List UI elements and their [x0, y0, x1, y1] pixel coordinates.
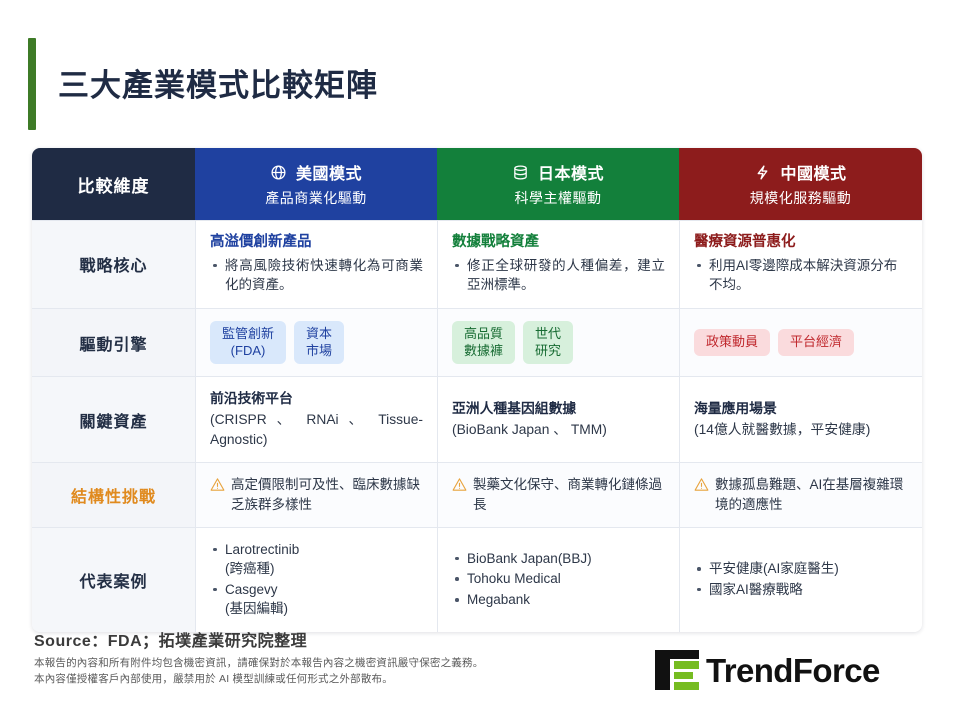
cell-cases-us: Larotrectinib(跨癌種) Casgevy(基因編輯)	[195, 528, 437, 632]
challenge-text: 製藥文化保守、商業轉化鏈條過長	[473, 475, 665, 514]
cell-driving-engine-jp: 高品質數據褲 世代研究	[437, 309, 679, 377]
header-col-jp-subtitle: 科學主權驅動	[515, 188, 602, 208]
row-label-representative-cases: 代表案例	[32, 528, 195, 632]
cell-lead: 數據戰略資產	[452, 233, 665, 253]
source-note: Source：FDA；拓墣產業研究院整理	[34, 627, 307, 651]
slide-root: 三大產業模式比較矩陣 TrendForce 比較維度 美國模式 產品商業化驅動	[0, 0, 960, 720]
cell-lead: 高溢價創新產品	[210, 233, 423, 253]
trendforce-logo-text: TrendForce	[706, 654, 880, 687]
row-label-driving-engine: 驅動引擎	[32, 309, 195, 377]
cell-challenge-jp: 製藥文化保守、商業轉化鏈條過長	[437, 463, 679, 526]
row-label-strategy-core: 戰略核心	[32, 221, 195, 308]
disclaimer-line-1: 本報告的內容和所有附件均包含機密資訊，請確保對於本報告內容之機密資訊嚴守保密之義…	[34, 655, 483, 671]
badge[interactable]: 平台經濟	[778, 329, 854, 356]
cell-challenge-cn: 數據孤島難題、AI在基層複雜環境的適應性	[679, 463, 922, 526]
list-item: Tohoku Medical	[452, 569, 665, 589]
cell-key-assets-cn: 海量應用場景 (14億人就醫數據，平安健康)	[679, 377, 922, 462]
header-col-us: 美國模式 產品商業化驅動	[195, 148, 437, 220]
cell-cases-cn: 平安健康(AI家庭醫生) 國家AI醫療戰略	[679, 528, 922, 632]
badge[interactable]: 監管創新(FDA)	[210, 321, 286, 365]
list-item: Larotrectinib(跨癌種)	[210, 540, 423, 579]
header-col-us-subtitle: 產品商業化驅動	[265, 188, 367, 208]
list-item: Casgevy(基因編輯)	[210, 580, 423, 619]
cell-strategy-core-jp: 數據戰略資產 修正全球研發的人種偏差，建立亞洲標準。	[437, 221, 679, 308]
badge[interactable]: 世代研究	[523, 321, 573, 365]
table-row-strategy-core: 戰略核心 高溢價創新產品 將高風險技術快速轉化為可商業化的資產。 數據戰略資產 …	[32, 220, 922, 308]
badge[interactable]: 高品質數據褲	[452, 321, 515, 365]
header-col-jp-name: 日本模式	[538, 160, 604, 184]
lightning-icon	[754, 164, 771, 181]
badge[interactable]: 資本市場	[294, 321, 344, 365]
cell-key-assets-jp: 亞洲人種基因組數據 (BioBank Japan 、 TMM)	[437, 377, 679, 462]
list-item: Megabank	[452, 590, 665, 610]
asset-detail: (14億人就醫數據，平安健康)	[694, 420, 908, 440]
asset-title: 海量應用場景	[694, 399, 908, 419]
header-col-us-name: 美國模式	[296, 160, 362, 184]
list-item: 平安健康(AI家庭醫生)	[694, 559, 908, 579]
globe-icon	[270, 164, 287, 181]
badge[interactable]: 政策動員	[694, 329, 770, 356]
list-item: 國家AI醫療戰略	[694, 580, 908, 600]
header-col-cn-subtitle: 規模化服務驅動	[750, 188, 852, 208]
table-row-structural-challenges: 結構性挑戰 高定價限制可及性、臨床數據缺乏族群多樣性 製藥文化保守、商業轉化鏈條…	[32, 462, 922, 526]
disclaimer: 本報告的內容和所有附件均包含機密資訊，請確保對於本報告內容之機密資訊嚴守保密之義…	[34, 655, 483, 688]
cell-driving-engine-us: 監管創新(FDA) 資本市場	[195, 309, 437, 377]
header-dimension-label: 比較維度	[32, 148, 195, 220]
warning-icon	[452, 477, 467, 492]
cell-strategy-core-cn: 醫療資源普惠化 利用AI零邊際成本解決資源分布不均。	[679, 221, 922, 308]
cell-cases-jp: BioBank Japan(BBJ) Tohoku Medical Megaba…	[437, 528, 679, 632]
challenge-text: 數據孤島難題、AI在基層複雜環境的適應性	[715, 475, 908, 514]
comparison-matrix-table: 比較維度 美國模式 產品商業化驅動 日本模式 科學主權驅動	[32, 148, 922, 632]
cell-strategy-core-us: 高溢價創新產品 將高風險技術快速轉化為可商業化的資產。	[195, 221, 437, 308]
title-accent-bar	[28, 38, 36, 130]
challenge-text: 高定價限制可及性、臨床數據缺乏族群多樣性	[231, 475, 423, 514]
row-label-key-assets: 關鍵資產	[32, 377, 195, 462]
list-item: 將高風險技術快速轉化為可商業化的資產。	[210, 256, 423, 295]
asset-title: 亞洲人種基因組數據	[452, 399, 665, 419]
list-item: 利用AI零邊際成本解決資源分布不均。	[694, 256, 908, 295]
database-icon	[512, 164, 529, 181]
row-label-structural-challenges: 結構性挑戰	[32, 463, 195, 526]
warning-icon	[210, 477, 225, 492]
table-row-driving-engine: 驅動引擎 監管創新(FDA) 資本市場 高品質數據褲 世代研究 政策動員 平台經…	[32, 308, 922, 377]
cell-lead: 醫療資源普惠化	[694, 233, 908, 253]
header-col-cn: 中國模式 規模化服務驅動	[679, 148, 922, 220]
header-col-cn-name: 中國模式	[780, 160, 846, 184]
asset-detail: (CRISPR 、 RNAi 、 Tissue-Agnostic)	[210, 410, 423, 450]
warning-icon	[694, 477, 709, 492]
page-title: 三大產業模式比較矩陣	[58, 60, 378, 105]
table-header-row: 比較維度 美國模式 產品商業化驅動 日本模式 科學主權驅動	[32, 148, 922, 220]
trendforce-logo-mark	[655, 650, 699, 690]
header-col-jp: 日本模式 科學主權驅動	[437, 148, 679, 220]
table-row-key-assets: 關鍵資產 前沿技術平台 (CRISPR 、 RNAi 、 Tissue-Agno…	[32, 376, 922, 462]
cell-key-assets-us: 前沿技術平台 (CRISPR 、 RNAi 、 Tissue-Agnostic)	[195, 377, 437, 462]
disclaimer-line-2: 本內容僅授權客戶內部使用，嚴禁用於 AI 模型訓練或任何形式之外部散布。	[34, 671, 483, 687]
list-item: BioBank Japan(BBJ)	[452, 549, 665, 569]
cell-driving-engine-cn: 政策動員 平台經濟	[679, 309, 922, 377]
asset-detail: (BioBank Japan 、 TMM)	[452, 420, 665, 440]
asset-title: 前沿技術平台	[210, 389, 423, 409]
table-row-representative-cases: 代表案例 Larotrectinib(跨癌種) Casgevy(基因編輯) Bi…	[32, 527, 922, 632]
list-item: 修正全球研發的人種偏差，建立亞洲標準。	[452, 256, 665, 295]
trendforce-logo: TrendForce	[655, 650, 880, 690]
cell-challenge-us: 高定價限制可及性、臨床數據缺乏族群多樣性	[195, 463, 437, 526]
